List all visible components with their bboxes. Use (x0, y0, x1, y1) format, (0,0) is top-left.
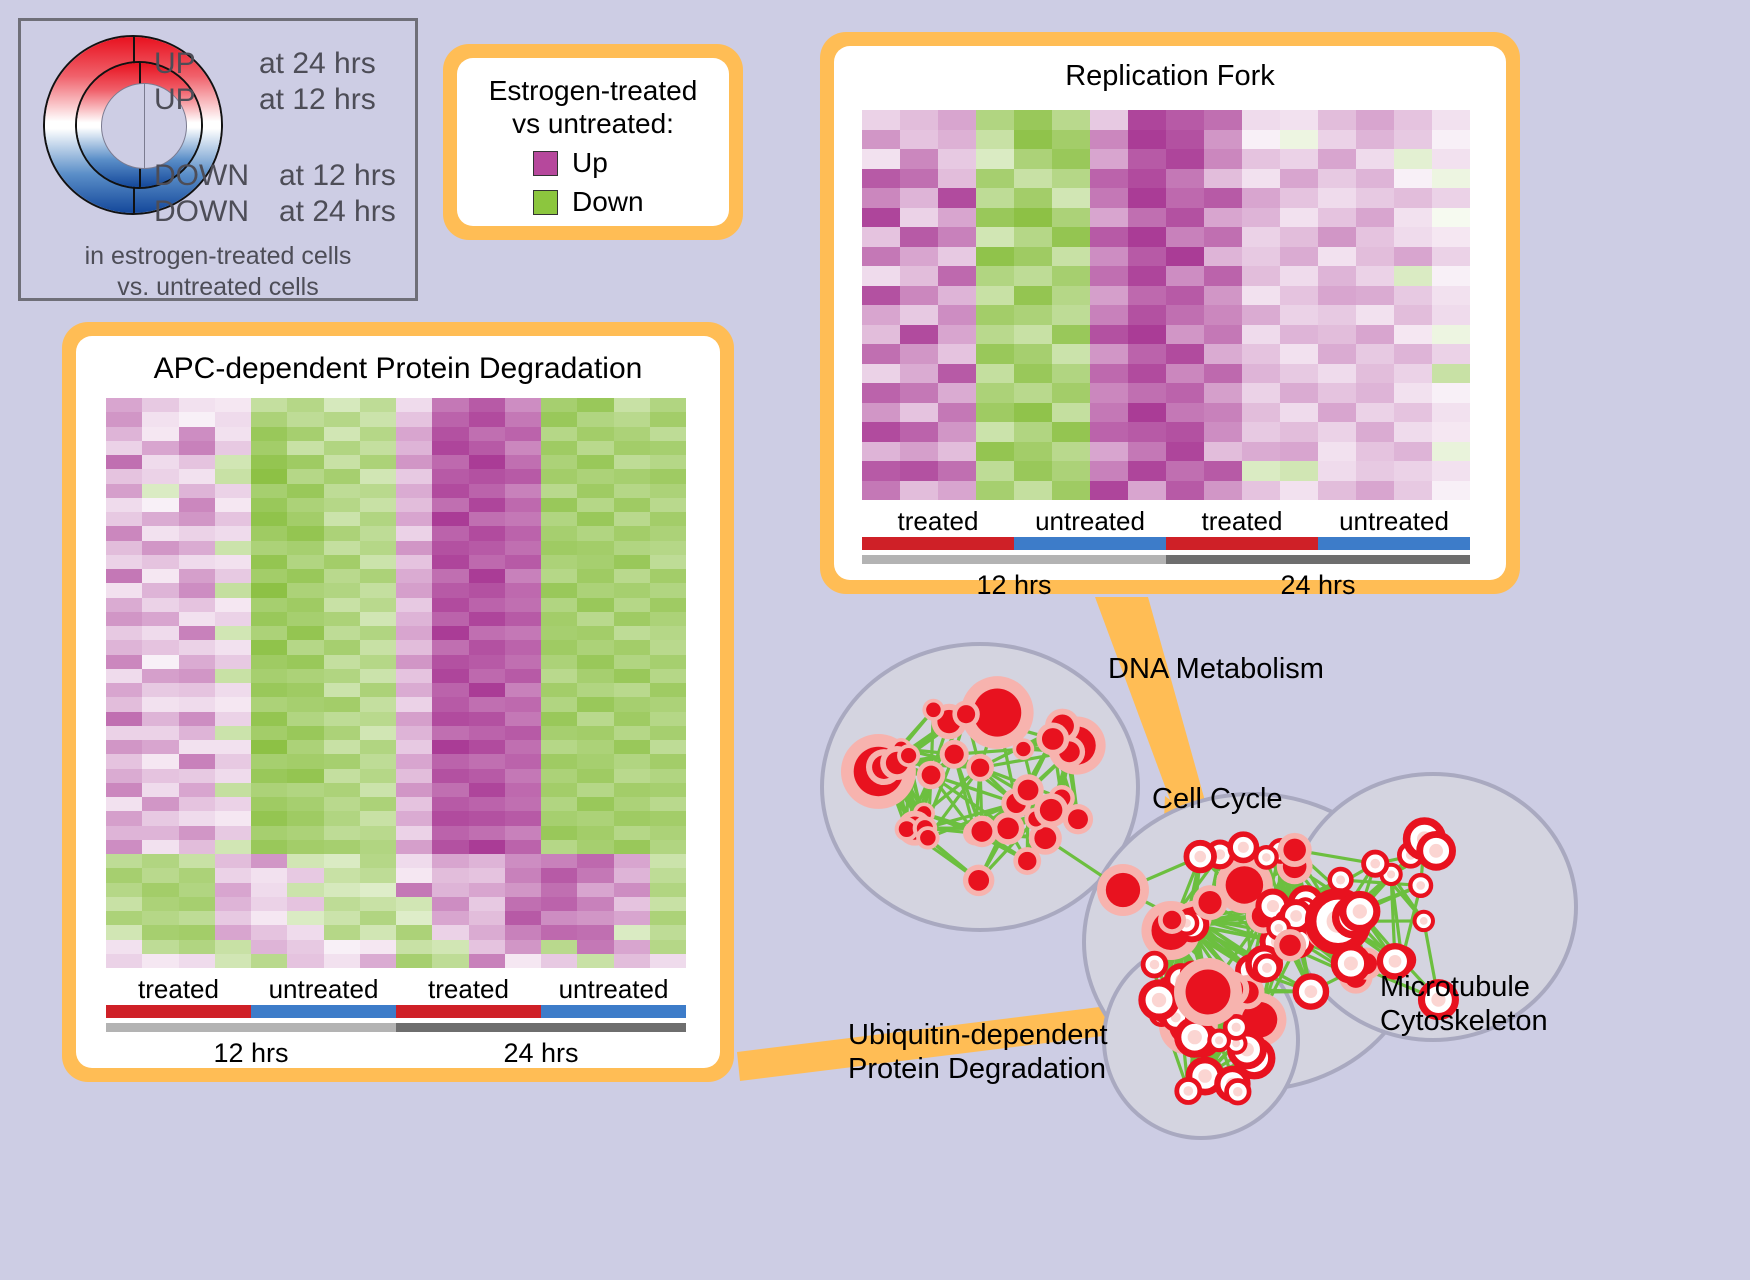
heatmap-cell (396, 868, 432, 882)
heatmap-cell (251, 398, 287, 412)
heatmap-cell (505, 583, 541, 597)
heatmap-cell (1394, 266, 1432, 286)
network-node[interactable] (1274, 929, 1306, 961)
heatmap-cell (396, 612, 432, 626)
heatmap-cell (1014, 344, 1052, 364)
heatmap-cell (106, 626, 142, 640)
heatmap-cell (938, 305, 976, 325)
network-node[interactable] (917, 761, 945, 789)
heatmap-cell (324, 541, 360, 555)
heatmap-cell (650, 683, 686, 697)
heatmap-cell (577, 569, 613, 583)
heatmap-cell (1318, 442, 1356, 462)
heatmap-cell (469, 598, 505, 612)
heatmap-cell (1052, 481, 1090, 501)
heatmap-cell (900, 383, 938, 403)
heatmap-cell (614, 526, 650, 540)
network-node[interactable] (1034, 793, 1068, 827)
heatmap-cell (396, 398, 432, 412)
heatmap-cell (614, 569, 650, 583)
heatmap-cell (287, 854, 323, 868)
heatmap-cell (251, 726, 287, 740)
network-node[interactable] (966, 816, 998, 848)
heatmap-cell (324, 441, 360, 455)
network-node[interactable] (1225, 1016, 1247, 1038)
heatmap-cell (505, 783, 541, 797)
heatmap-cell (142, 427, 178, 441)
network-node[interactable] (1330, 869, 1352, 891)
heatmap-cell (1356, 227, 1394, 247)
heatmap-cell (251, 940, 287, 954)
heatmap-cell (215, 626, 251, 640)
network-node[interactable] (1256, 847, 1277, 868)
heatmap-cell (469, 883, 505, 897)
heatmap-cell (1204, 325, 1242, 345)
heatmap-cell (360, 498, 396, 512)
network-node[interactable] (1227, 1080, 1250, 1103)
network-node[interactable] (1097, 864, 1149, 916)
legend-item-down: Down (533, 186, 729, 218)
heatmap-cell (432, 712, 468, 726)
heatmap-cell (1432, 169, 1470, 189)
heatmap-cell (938, 422, 976, 442)
heatmap-cell (900, 461, 938, 481)
network-node[interactable] (940, 740, 969, 769)
heatmap-cell (106, 427, 142, 441)
heatmap-cell (287, 783, 323, 797)
network-node[interactable] (922, 699, 944, 721)
heatmap-cell (324, 484, 360, 498)
heatmap-cell (142, 697, 178, 711)
heatmap-cell (215, 726, 251, 740)
heatmap-cell (577, 455, 613, 469)
heatmap-cell (432, 697, 468, 711)
heatmap-cell (1090, 286, 1128, 306)
network-node[interactable] (1343, 894, 1377, 928)
heatmap-cell (577, 669, 613, 683)
network-node[interactable] (897, 744, 920, 767)
heatmap-cell (1090, 442, 1128, 462)
heatmap-cell (577, 769, 613, 783)
network-node[interactable] (1255, 956, 1279, 980)
heatmap-cell (650, 883, 686, 897)
heatmap-cell (287, 954, 323, 968)
heatmap-cell (251, 412, 287, 426)
heatmap-cell (215, 897, 251, 911)
heatmap-cell (1356, 286, 1394, 306)
network-node[interactable] (1296, 976, 1326, 1006)
heatmap-cell (215, 455, 251, 469)
network-node[interactable] (1174, 958, 1242, 1026)
heatmap-cell (106, 911, 142, 925)
heatmap-cell (432, 455, 468, 469)
heatmap-cell (577, 427, 613, 441)
heatmap-cell (360, 826, 396, 840)
heatmap-cell (360, 655, 396, 669)
panel-apc-degradation: APC-dependent Protein Degradation treate… (62, 322, 734, 1082)
heatmap-cell (142, 612, 178, 626)
heatmap-cell (1318, 247, 1356, 267)
network-label-dna-metabolism: DNA Metabolism (1108, 652, 1324, 686)
heatmap-cell (287, 455, 323, 469)
heatmap-cell (432, 669, 468, 683)
heatmap-cell (469, 940, 505, 954)
heatmap-cell (1318, 286, 1356, 306)
network-node[interactable] (952, 700, 979, 727)
heatmap-cell (324, 883, 360, 897)
network-node[interactable] (1143, 953, 1166, 976)
heatmap-cell (900, 442, 938, 462)
heatmap-cell (577, 484, 613, 498)
heatmap-cell (432, 854, 468, 868)
heatmap-cell (1128, 442, 1166, 462)
heatmap-cell (862, 247, 900, 267)
heatmap-cell (614, 740, 650, 754)
heatmap-cell (862, 344, 900, 364)
heatmap-cell (432, 626, 468, 640)
heatmap-cell (432, 883, 468, 897)
heatmap-cell (614, 911, 650, 925)
heatmap-cell (106, 441, 142, 455)
heatmap-cell (106, 412, 142, 426)
heatmap-cell (1128, 286, 1166, 306)
heatmap-cell (215, 441, 251, 455)
heatmap-cell (469, 783, 505, 797)
heatmap-cell (251, 484, 287, 498)
heatmap-cell (1242, 305, 1280, 325)
heatmap-cell (1394, 481, 1432, 501)
heatmap-cell (1014, 247, 1052, 267)
heatmap-cell (577, 911, 613, 925)
legend-item-down-label: Down (572, 186, 644, 218)
heatmap-cell (650, 569, 686, 583)
heatmap-cell (360, 441, 396, 455)
heatmap-cell (215, 484, 251, 498)
apc-title: APC-dependent Protein Degradation (76, 336, 720, 386)
heatmap-cell (1166, 442, 1204, 462)
heatmap-cell (360, 854, 396, 868)
heatmap-cell (179, 954, 215, 968)
heatmap-cell (142, 954, 178, 968)
heatmap-cell (938, 266, 976, 286)
heatmap-cell (1014, 149, 1052, 169)
heatmap-cell (900, 286, 938, 306)
heatmap-cell (142, 669, 178, 683)
heatmap-cell (541, 797, 577, 811)
heatmap-cell (106, 683, 142, 697)
heatmap-cell (215, 498, 251, 512)
heatmap-cell (650, 583, 686, 597)
heatmap-cell (179, 484, 215, 498)
heatmap-cell (1242, 149, 1280, 169)
heatmap-cell (1280, 403, 1318, 423)
heatmap-cell (614, 797, 650, 811)
network-node[interactable] (1278, 833, 1312, 867)
heatmap-cell (287, 811, 323, 825)
legend-time-down-24: at 24 hrs (279, 195, 396, 229)
heatmap-cell (650, 783, 686, 797)
heatmap-cell (179, 526, 215, 540)
heatmap-cell (505, 854, 541, 868)
heatmap-cell (396, 512, 432, 526)
heatmap-cell (360, 754, 396, 768)
heatmap-cell (432, 897, 468, 911)
apc-bar-2 (396, 1005, 541, 1018)
heatmap-cell (1014, 188, 1052, 208)
heatmap-cell (1394, 442, 1432, 462)
heatmap-cell (251, 669, 287, 683)
heatmap-cell (215, 883, 251, 897)
heatmap-cell (938, 286, 976, 306)
heatmap-cell (1052, 383, 1090, 403)
heatmap-cell (1204, 188, 1242, 208)
heatmap-cell (142, 883, 178, 897)
heatmap-cell (1166, 305, 1204, 325)
heatmap-cell (1204, 481, 1242, 501)
heatmap-cell (650, 797, 686, 811)
heatmap-cell (179, 512, 215, 526)
heatmap-cell (650, 769, 686, 783)
network-node[interactable] (1420, 834, 1453, 867)
heatmap-cell (900, 403, 938, 423)
network-node[interactable] (1158, 906, 1186, 934)
heatmap-cell (1090, 227, 1128, 247)
heatmap-cell (324, 655, 360, 669)
heatmap-cell (900, 208, 938, 228)
replication-fork-heatmap (862, 110, 1470, 500)
heatmap-cell (179, 697, 215, 711)
heatmap-cell (179, 740, 215, 754)
heatmap-cell (251, 840, 287, 854)
heatmap-cell (1318, 383, 1356, 403)
heatmap-cell (432, 541, 468, 555)
heatmap-cell (360, 911, 396, 925)
network-node[interactable] (1193, 885, 1228, 920)
heatmap-cell (142, 712, 178, 726)
heatmap-cell (324, 640, 360, 654)
heatmap-cell (251, 897, 287, 911)
heatmap-cell (505, 925, 541, 939)
heatmap-cell (1014, 286, 1052, 306)
heatmap-cell (324, 826, 360, 840)
heatmap-cell (900, 364, 938, 384)
heatmap-cell (1128, 247, 1166, 267)
heatmap-cell (215, 598, 251, 612)
heatmap-cell (432, 811, 468, 825)
heatmap-cell (1242, 208, 1280, 228)
heatmap-cell (900, 422, 938, 442)
heatmap-cell (505, 498, 541, 512)
heatmap-cell (251, 655, 287, 669)
heatmap-cell (1356, 461, 1394, 481)
heatmap-cell (541, 868, 577, 882)
heatmap-cell (938, 383, 976, 403)
heatmap-cell (1432, 383, 1470, 403)
heatmap-cell (650, 498, 686, 512)
heatmap-cell (142, 826, 178, 840)
heatmap-cell (650, 940, 686, 954)
heatmap-cell (324, 911, 360, 925)
heatmap-cell (324, 598, 360, 612)
heatmap-cell (106, 826, 142, 840)
heatmap-cell (215, 583, 251, 597)
heatmap-cell (1432, 442, 1470, 462)
heatmap-cell (1432, 422, 1470, 442)
heatmap-cell (469, 398, 505, 412)
heatmap-cell (360, 868, 396, 882)
heatmap-cell (577, 712, 613, 726)
network-node[interactable] (1036, 723, 1069, 756)
heatmap-cell (469, 897, 505, 911)
heatmap-cell (1166, 364, 1204, 384)
heatmap-cell (287, 427, 323, 441)
heatmap-cell (1014, 422, 1052, 442)
heatmap-cell (505, 811, 541, 825)
heatmap-cell (179, 797, 215, 811)
heatmap-cell (541, 469, 577, 483)
heatmap-cell (324, 769, 360, 783)
heatmap-cell (360, 455, 396, 469)
heatmap-cell (432, 441, 468, 455)
heatmap-cell (1128, 305, 1166, 325)
heatmap-cell (215, 469, 251, 483)
heatmap-cell (1356, 403, 1394, 423)
heatmap-cell (614, 427, 650, 441)
rf-time-bars (862, 555, 1470, 564)
heatmap-cell (1242, 442, 1280, 462)
network-node[interactable] (1142, 983, 1176, 1017)
apc-group-label-2: treated (396, 974, 541, 1005)
heatmap-cell (396, 683, 432, 697)
heatmap-cell (505, 512, 541, 526)
heatmap-cell (142, 897, 178, 911)
heatmap-cell (1394, 344, 1432, 364)
heatmap-cell (432, 526, 468, 540)
heatmap-cell (396, 925, 432, 939)
heatmap-cell (142, 840, 178, 854)
heatmap-cell (976, 461, 1014, 481)
heatmap-cell (142, 726, 178, 740)
heatmap-cell (1204, 305, 1242, 325)
heatmap-cell (251, 712, 287, 726)
heatmap-cell (505, 655, 541, 669)
heatmap-cell (179, 412, 215, 426)
heatmap-cell (251, 512, 287, 526)
heatmap-cell (862, 169, 900, 189)
heatmap-cell (1356, 247, 1394, 267)
network-node[interactable] (1364, 852, 1387, 875)
heatmap-cell (1014, 383, 1052, 403)
heatmap-cell (1014, 481, 1052, 501)
heatmap-cell (469, 455, 505, 469)
updown-title-line-2: vs untreated: (457, 107, 729, 140)
network-node[interactable] (916, 826, 939, 849)
heatmap-cell (251, 455, 287, 469)
heatmap-cell (106, 840, 142, 854)
heatmap-cell (1280, 422, 1318, 442)
network-node[interactable] (963, 865, 994, 896)
heatmap-cell (577, 840, 613, 854)
heatmap-cell (179, 555, 215, 569)
network-node[interactable] (1410, 875, 1431, 896)
network-node[interactable] (1177, 1079, 1200, 1102)
heatmap-cell (287, 484, 323, 498)
heatmap-cell (577, 512, 613, 526)
heatmap-cell (505, 897, 541, 911)
heatmap-cell (862, 266, 900, 286)
heatmap-cell (360, 583, 396, 597)
heatmap-cell (1280, 130, 1318, 150)
network-node[interactable] (1186, 843, 1214, 871)
network-node[interactable] (966, 754, 994, 782)
heatmap-cell (1356, 442, 1394, 462)
network-node[interactable] (1013, 847, 1041, 875)
heatmap-cell (360, 526, 396, 540)
heatmap-cell (541, 769, 577, 783)
heatmap-cell (541, 754, 577, 768)
heatmap-cell (324, 740, 360, 754)
heatmap-cell (324, 783, 360, 797)
heatmap-cell (251, 498, 287, 512)
heatmap-cell (938, 208, 976, 228)
heatmap-cell (142, 541, 178, 555)
heatmap-cell (541, 697, 577, 711)
heatmap-cell (469, 655, 505, 669)
heatmap-cell (251, 740, 287, 754)
heatmap-cell (577, 826, 613, 840)
heatmap-cell (360, 555, 396, 569)
heatmap-cell (324, 612, 360, 626)
heatmap-cell (900, 110, 938, 130)
heatmap-cell (215, 925, 251, 939)
heatmap-cell (469, 555, 505, 569)
heatmap-cell (1052, 266, 1090, 286)
heatmap-cell (577, 626, 613, 640)
heatmap-cell (251, 626, 287, 640)
heatmap-cell (432, 640, 468, 654)
heatmap-cell (505, 441, 541, 455)
heatmap-cell (1166, 403, 1204, 423)
heatmap-cell (577, 441, 613, 455)
heatmap-cell (1280, 383, 1318, 403)
heatmap-cell (614, 840, 650, 854)
network-node[interactable] (1230, 834, 1256, 860)
network-node[interactable] (1334, 947, 1367, 980)
heatmap-cell (251, 427, 287, 441)
heatmap-cell (1280, 247, 1318, 267)
heatmap-cell (1242, 247, 1280, 267)
heatmap-cell (1394, 247, 1432, 267)
legend-item-up: Up (533, 147, 729, 179)
heatmap-cell (862, 110, 900, 130)
heatmap-cell (862, 383, 900, 403)
heatmap-cell (106, 883, 142, 897)
heatmap-cell (1394, 227, 1432, 247)
heatmap-cell (1242, 344, 1280, 364)
heatmap-cell (215, 712, 251, 726)
heatmap-cell (650, 754, 686, 768)
heatmap-cell (577, 498, 613, 512)
heatmap-cell (1090, 188, 1128, 208)
replication-fork-axis: treated untreated treated untreated 12 h… (862, 506, 1470, 601)
network-node[interactable] (1012, 738, 1034, 760)
heatmap-cell (505, 840, 541, 854)
network-node[interactable] (1415, 912, 1433, 930)
heatmap-cell (287, 598, 323, 612)
heatmap-cell (179, 868, 215, 882)
heatmap-cell (1204, 149, 1242, 169)
heatmap-cell (650, 655, 686, 669)
